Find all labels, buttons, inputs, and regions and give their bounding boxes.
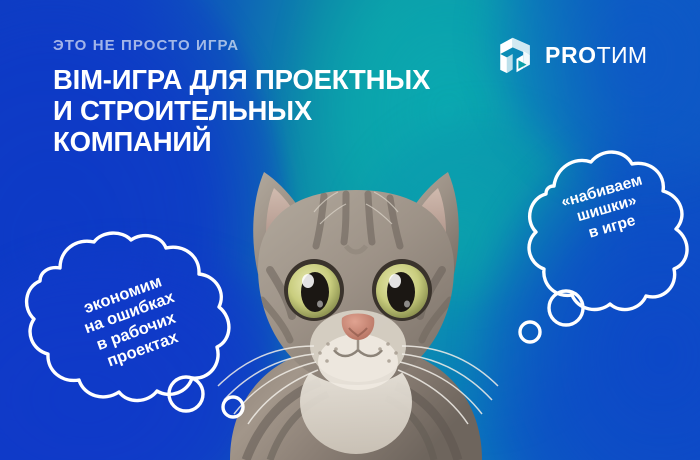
protim-logo[interactable]: PROТИМ	[497, 33, 647, 77]
speech-bubble-cloud-icon	[518, 144, 700, 394]
speech-bubble-left: экономим на ошибках в рабочих проектах	[14, 232, 264, 432]
speech-bubble-cloud-icon	[14, 232, 264, 432]
protim-isometric-cube-logo-icon	[497, 33, 536, 77]
headline-line-2: И СТРОИТЕЛЬНЫХ	[53, 95, 523, 126]
headline-line-1: BIM-ИГРА ДЛЯ ПРОЕКТНЫХ	[53, 64, 523, 95]
logo-wordmark: PROТИМ	[545, 44, 647, 67]
speech-bubble-right: «набиваем шишки» в игре	[518, 144, 700, 394]
eyebrow-text: ЭТО НЕ ПРОСТО ИГРА	[53, 36, 523, 55]
logo-text-tim: ТИМ	[597, 42, 648, 68]
promo-banner: ЭТО НЕ ПРОСТО ИГРА BIM-ИГРА ДЛЯ ПРОЕКТНЫ…	[0, 0, 700, 460]
headline-block: ЭТО НЕ ПРОСТО ИГРА BIM-ИГРА ДЛЯ ПРОЕКТНЫ…	[53, 36, 523, 157]
logo-text-pro: PRO	[545, 42, 597, 68]
headline-line-3: КОМПАНИЙ	[53, 126, 523, 157]
page-title: BIM-ИГРА ДЛЯ ПРОЕКТНЫХ И СТРОИТЕЛЬНЫХ КО…	[53, 64, 523, 157]
